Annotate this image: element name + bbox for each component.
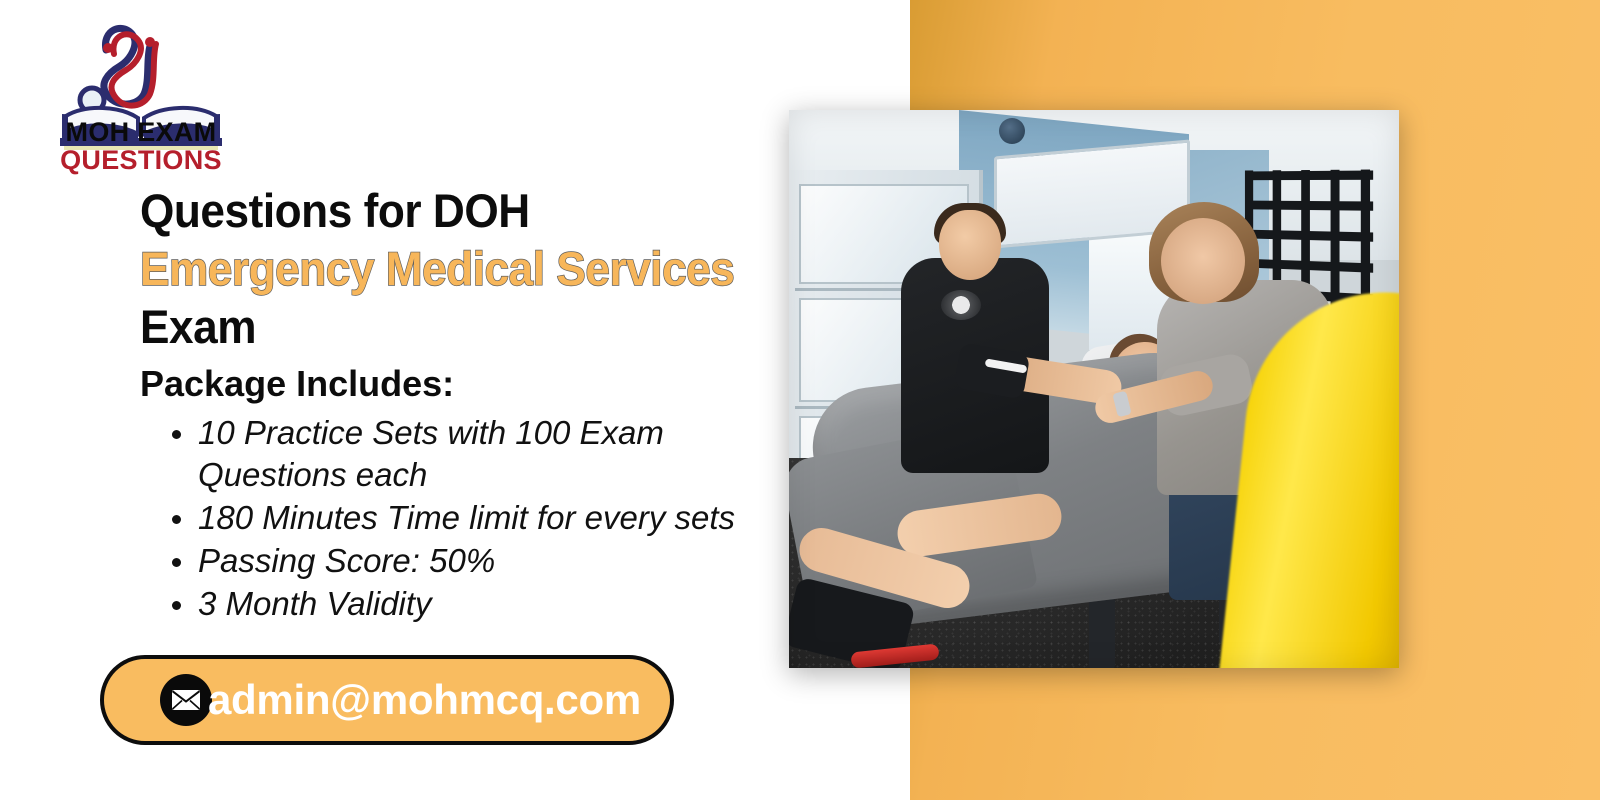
package-title: Package Includes: (140, 362, 820, 406)
ambulance-photo (789, 110, 1399, 668)
logo-text-secondary: QUESTIONS (44, 146, 238, 174)
list-item: 180 Minutes Time limit for every sets (198, 497, 798, 539)
ceiling-port-icon (999, 118, 1025, 144)
brand-logo[interactable]: MOH EXAM QUESTIONS (46, 14, 236, 166)
woman-head (1161, 218, 1245, 304)
headline-line-1: Questions for DOH (140, 182, 779, 240)
package-block: Package Includes: 10 Practice Sets with … (140, 362, 820, 626)
ambulance-scene (789, 110, 1399, 668)
email-contact-button[interactable]: admin@mohmcq.com (100, 655, 674, 745)
logo-text-primary: MOH EXAM (44, 118, 238, 146)
list-item: 10 Practice Sets with 100 Exam Questions… (198, 412, 798, 496)
stethoscope-icon (80, 28, 156, 112)
headline-block: Questions for DOH Emergency Medical Serv… (140, 182, 820, 356)
list-item: Passing Score: 50% (198, 540, 798, 582)
headline-line-3: Exam (140, 298, 779, 356)
email-address: admin@mohmcq.com (208, 676, 641, 724)
headline-line-2: Emergency Medical Services (140, 240, 779, 298)
paramedic-badge-icon (941, 290, 981, 320)
package-list: 10 Practice Sets with 100 Exam Questions… (140, 412, 820, 625)
list-item: 3 Month Validity (198, 583, 798, 625)
envelope-icon (160, 674, 212, 726)
promo-banner: MOH EXAM QUESTIONS Questions for DOH Eme… (0, 0, 1600, 800)
paramedic-head (939, 210, 1001, 280)
